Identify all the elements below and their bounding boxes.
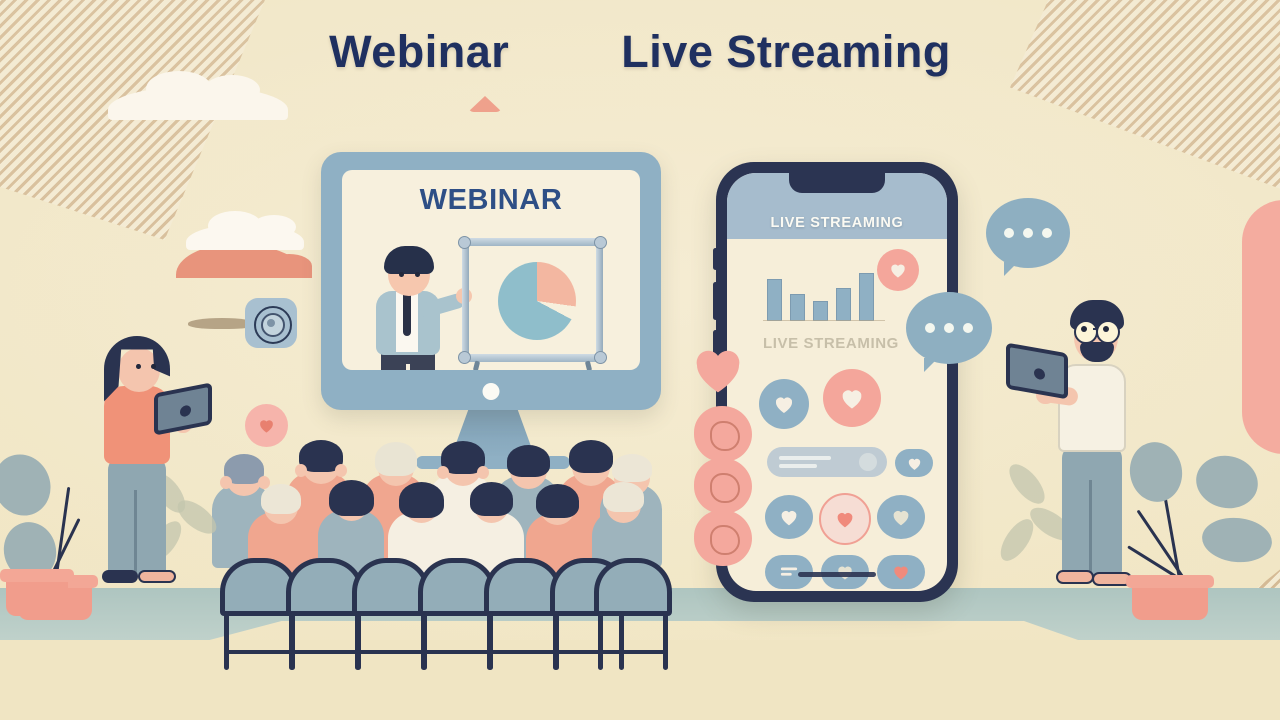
phone-input-bar[interactable]	[767, 447, 887, 477]
chat-bubble-lower	[906, 292, 992, 364]
typing-dot	[1023, 228, 1033, 238]
plant-right-pot-rim	[1126, 575, 1214, 588]
chair	[594, 558, 672, 670]
chair-rail	[356, 650, 426, 654]
audience-group	[196, 448, 666, 648]
bar-3	[813, 301, 828, 321]
heart-icon	[257, 416, 276, 435]
board-rail-top	[460, 238, 605, 246]
man-pants-split	[1089, 480, 1092, 576]
board-leg-left	[462, 242, 469, 358]
board-knob-top-left	[458, 236, 471, 249]
heart-icon-float	[690, 338, 746, 400]
man-beard	[1080, 342, 1114, 362]
glasses-icon-right	[1096, 320, 1120, 344]
audience-front-hair-6	[603, 482, 644, 512]
plant-right-leaf-3	[1200, 514, 1274, 565]
webinar-monitor: WEBINAR	[321, 152, 661, 410]
typing-dot	[944, 323, 954, 333]
chair-leg-left	[422, 612, 427, 670]
board-leg-right	[596, 242, 603, 358]
audience-back-hair-3	[375, 442, 417, 476]
woman-shoe-right	[138, 570, 176, 583]
monitor-power-button[interactable]	[483, 383, 500, 400]
phone-home-indicator	[798, 572, 876, 577]
audience-back-ear-4a	[437, 466, 449, 479]
pie-chart	[498, 262, 576, 340]
chat-bubble-upper	[986, 198, 1070, 268]
phone-header-title: LIVE STREAMING	[770, 215, 903, 231]
chair-rail	[598, 650, 668, 654]
chair-leg-left	[554, 612, 559, 670]
hill-shape-small	[266, 254, 312, 278]
presenter-figure	[364, 236, 462, 370]
audience-front-hair-4	[470, 482, 513, 516]
man-eye-left	[1081, 326, 1087, 332]
bar-2	[790, 294, 805, 321]
floating-heart-group	[690, 338, 746, 405]
typing-dot	[1004, 228, 1014, 238]
presenter-eye-right	[415, 272, 420, 277]
heart-icon	[906, 455, 923, 472]
phone-backdrop-shape	[1242, 200, 1280, 454]
heart-reaction-row2-left[interactable]	[765, 495, 813, 539]
audience-back-ear-2a	[295, 464, 307, 477]
woman-shoe-left	[102, 570, 138, 583]
woman-laptop-logo	[180, 404, 191, 417]
bar-1	[767, 279, 782, 321]
heart-icon	[838, 384, 866, 412]
input-placeholder-line-1	[779, 456, 831, 460]
heart-reaction-pink-badge[interactable]	[823, 369, 881, 427]
reaction-ring-1	[710, 421, 740, 451]
chair-rail	[488, 650, 558, 654]
planter-left-rim	[0, 569, 74, 582]
reaction-ring-2	[710, 473, 740, 503]
chair-leg-left	[224, 612, 229, 670]
heart-reaction-ring-center[interactable]	[819, 493, 871, 545]
chair-leg-right	[663, 612, 668, 670]
woman-eye-left	[136, 364, 141, 369]
heart-icon	[834, 508, 856, 530]
woman-pants-split	[134, 490, 137, 576]
man-pants	[1062, 446, 1122, 576]
presenter-eye-left	[399, 272, 404, 277]
heart-reaction-row2-right[interactable]	[877, 495, 925, 539]
woman-with-laptop	[78, 330, 206, 618]
chart-baseline	[763, 320, 885, 322]
headline-row: Webinar Live Streaming	[0, 26, 1280, 78]
chair-leg-left	[598, 612, 603, 670]
monitor-screen-title: WEBINAR	[342, 184, 640, 217]
bar-4	[836, 288, 851, 321]
audience-back-hair-6	[569, 440, 613, 473]
phone-silent-switch[interactable]	[713, 248, 718, 270]
planter-left-foreground	[0, 552, 80, 622]
glasses-icon-bridge	[1093, 328, 1098, 330]
record-icon-tile	[245, 298, 297, 348]
woman-eye-right	[151, 364, 156, 369]
heart-reaction-blue-left[interactable]	[759, 379, 809, 429]
audience-back-hair-5	[507, 445, 550, 477]
chair-rail	[224, 650, 294, 654]
input-avatar-icon	[859, 453, 877, 471]
audience-front-hair-1	[261, 484, 301, 514]
man-eye-right	[1103, 326, 1109, 332]
bar-5	[859, 273, 874, 321]
audience-front-hair-5	[536, 484, 579, 518]
board-knob-bottom-right	[594, 351, 607, 364]
message-icon	[778, 563, 800, 581]
board-rail-bottom	[460, 354, 605, 362]
phone-bar-chart	[763, 253, 885, 321]
illustration-canvas: Webinar Live Streaming WEBINAR	[0, 0, 1280, 720]
triangle-accent	[468, 96, 502, 112]
monitor-screen: WEBINAR	[342, 170, 640, 370]
man-tshirt	[1058, 364, 1126, 452]
heart-reaction-blue-top-right[interactable]	[895, 449, 933, 477]
planter-left-body	[6, 576, 68, 616]
heart-reaction-top-right[interactable]	[877, 249, 919, 291]
chair-back	[594, 558, 672, 616]
phone-notch	[789, 173, 885, 193]
audience-back-ear-1a	[220, 476, 232, 489]
page-title-right: Live Streaming	[621, 26, 951, 78]
chair-leg-left	[290, 612, 295, 670]
woman-pants	[108, 456, 166, 576]
reaction-ring-3	[710, 525, 740, 555]
typing-dot	[925, 323, 935, 333]
audience-front-hair-2	[329, 480, 374, 516]
audience-front-hair-3	[399, 482, 444, 518]
heart-icon	[778, 506, 800, 528]
plant-left-leaf-1	[0, 445, 60, 524]
board-knob-bottom-left	[458, 351, 471, 364]
chair-leg-left	[356, 612, 361, 670]
live-streaming-phone: LIVE STREAMING LIVE STREAMING	[716, 162, 958, 602]
board-knob-top-right	[594, 236, 607, 249]
heart-icon	[890, 506, 912, 528]
typing-dot	[1042, 228, 1052, 238]
presentation-board	[460, 238, 605, 362]
phone-screen: LIVE STREAMING LIVE STREAMING	[727, 173, 947, 591]
man-shoe-left	[1056, 570, 1094, 584]
record-icon-dot	[267, 319, 275, 327]
glasses-icon-left	[1074, 320, 1098, 344]
heart-icon	[891, 562, 911, 582]
phone-volume-up-button[interactable]	[713, 282, 718, 320]
heart-icon	[772, 392, 796, 416]
presenter-tie	[403, 294, 411, 336]
heart-icon-chip	[245, 404, 288, 447]
chair-leg-left	[488, 612, 493, 670]
heart-icon	[888, 260, 908, 280]
audience-back-ear-4b	[477, 466, 489, 479]
input-placeholder-line-2	[779, 464, 817, 468]
presenter-hair	[384, 246, 434, 274]
man-laptop-logo	[1034, 367, 1045, 380]
page-title-left: Webinar	[329, 26, 509, 78]
plant-right-leaf-2	[1191, 450, 1262, 514]
heart-reaction-bottom-right[interactable]	[877, 555, 925, 589]
board-foot-left	[473, 361, 480, 370]
chair-rail	[290, 650, 360, 654]
chair-rail	[422, 650, 492, 654]
audience-back-hair-7	[612, 454, 652, 482]
audience-back-ear-2b	[335, 464, 347, 477]
phone-watermark-text: LIVE STREAMING	[763, 335, 899, 352]
typing-dot	[963, 323, 973, 333]
plant-right	[1146, 436, 1280, 620]
